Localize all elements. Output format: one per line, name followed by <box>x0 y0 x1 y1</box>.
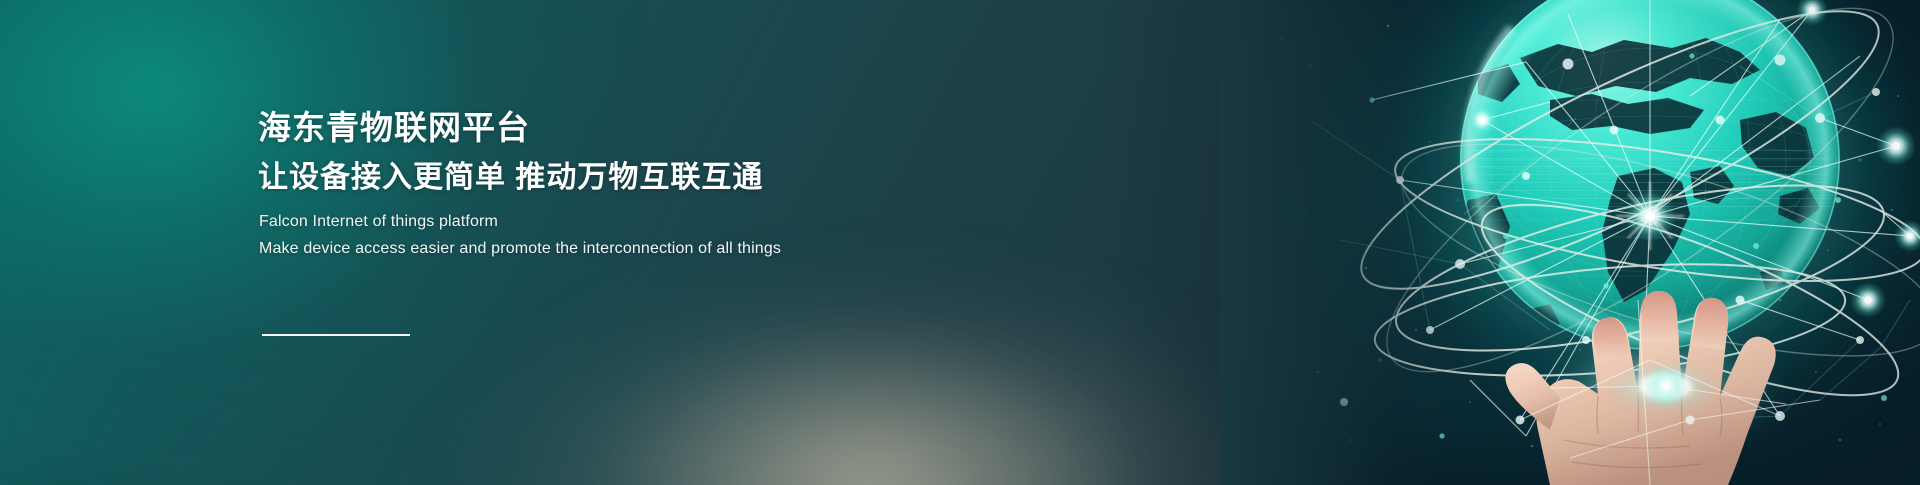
globe-network-artwork <box>1220 0 1920 485</box>
banner-content: 海东青物联网平台 让设备接入更简单 推动万物互联互通 Falcon Intern… <box>258 0 1158 485</box>
english-tagline-line-1: Falcon Internet of things platform <box>259 208 781 235</box>
hero-banner: 海东青物联网平台 让设备接入更简单 推动万物互联互通 Falcon Intern… <box>0 0 1920 485</box>
title-divider <box>262 334 410 336</box>
page-subtitle: 让设备接入更简单 推动万物互联互通 <box>258 158 763 198</box>
english-tagline-group: Falcon Internet of things platform Make … <box>259 208 781 262</box>
english-tagline-line-2: Make device access easier and promote th… <box>259 235 781 262</box>
page-title: 海东青物联网平台 <box>258 108 530 148</box>
